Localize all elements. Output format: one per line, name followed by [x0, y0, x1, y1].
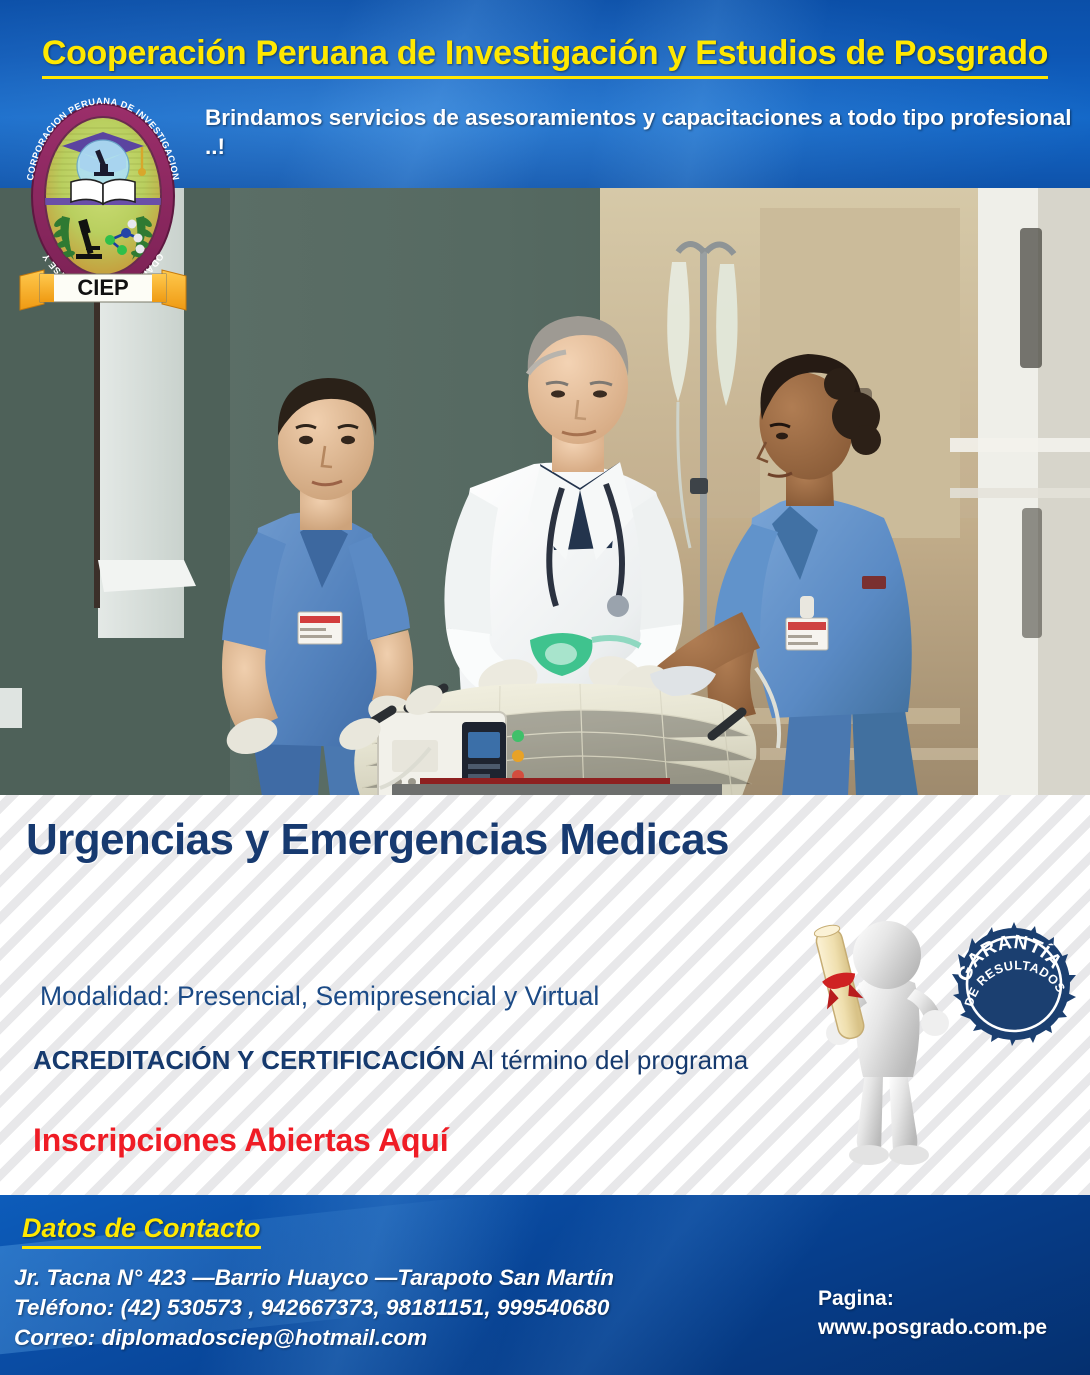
accreditation-label: ACREDITACIÓN Y CERTIFICACIÓN [33, 1045, 465, 1075]
contact-phone[interactable]: Teléfono: (42) 530573 , 942667373, 98181… [14, 1293, 614, 1323]
guarantee-badge: GARANTÍA DE RESULTADOS [948, 918, 1080, 1050]
enrollment-cta[interactable]: Inscripciones Abiertas Aquí [33, 1122, 448, 1159]
accreditation-line: ACREDITACIÓN Y CERTIFICACIÓN Al término … [33, 1043, 768, 1077]
contact-email[interactable]: Correo: diplomadosciep@hotmail.com [14, 1323, 614, 1353]
contact-heading-text: Datos de Contacto [22, 1213, 261, 1249]
course-modality: Modalidad: Presencial, Semipresencial y … [40, 981, 599, 1012]
contact-address: Jr. Tacna N° 423 —Barrio Huayco —Tarapot… [14, 1263, 614, 1293]
page-label: Pagina: [818, 1285, 1047, 1314]
ciep-crest-logo: CORPORACION PERUANA DE INVESTIGACION ODA… [14, 88, 192, 326]
open-book-icon [71, 179, 135, 204]
header-tagline: Brindamos servicios de asesoramientos y … [205, 104, 1075, 162]
contact-details: Jr. Tacna N° 423 —Barrio Huayco —Tarapot… [14, 1263, 614, 1353]
website-url[interactable]: www.posgrado.com.pe [818, 1314, 1047, 1343]
flyer-poster: Cooperación Peruana de Investigación y E… [0, 0, 1090, 1375]
contact-heading: Datos de Contacto [22, 1213, 261, 1249]
svg-text:CIEP: CIEP [77, 275, 128, 300]
ciep-banner-ribbon: CIEP [20, 270, 186, 310]
course-title: Urgencias y Emergencias Medicas [26, 815, 729, 865]
organization-title-text: Cooperación Peruana de Investigación y E… [42, 34, 1048, 79]
organization-title: Cooperación Peruana de Investigación y E… [0, 34, 1090, 79]
accreditation-detail: Al término del programa [471, 1045, 748, 1075]
contact-footer: Datos de Contacto Jr. Tacna N° 423 —Barr… [0, 1195, 1090, 1375]
website-block: Pagina: www.posgrado.com.pe [818, 1285, 1047, 1342]
